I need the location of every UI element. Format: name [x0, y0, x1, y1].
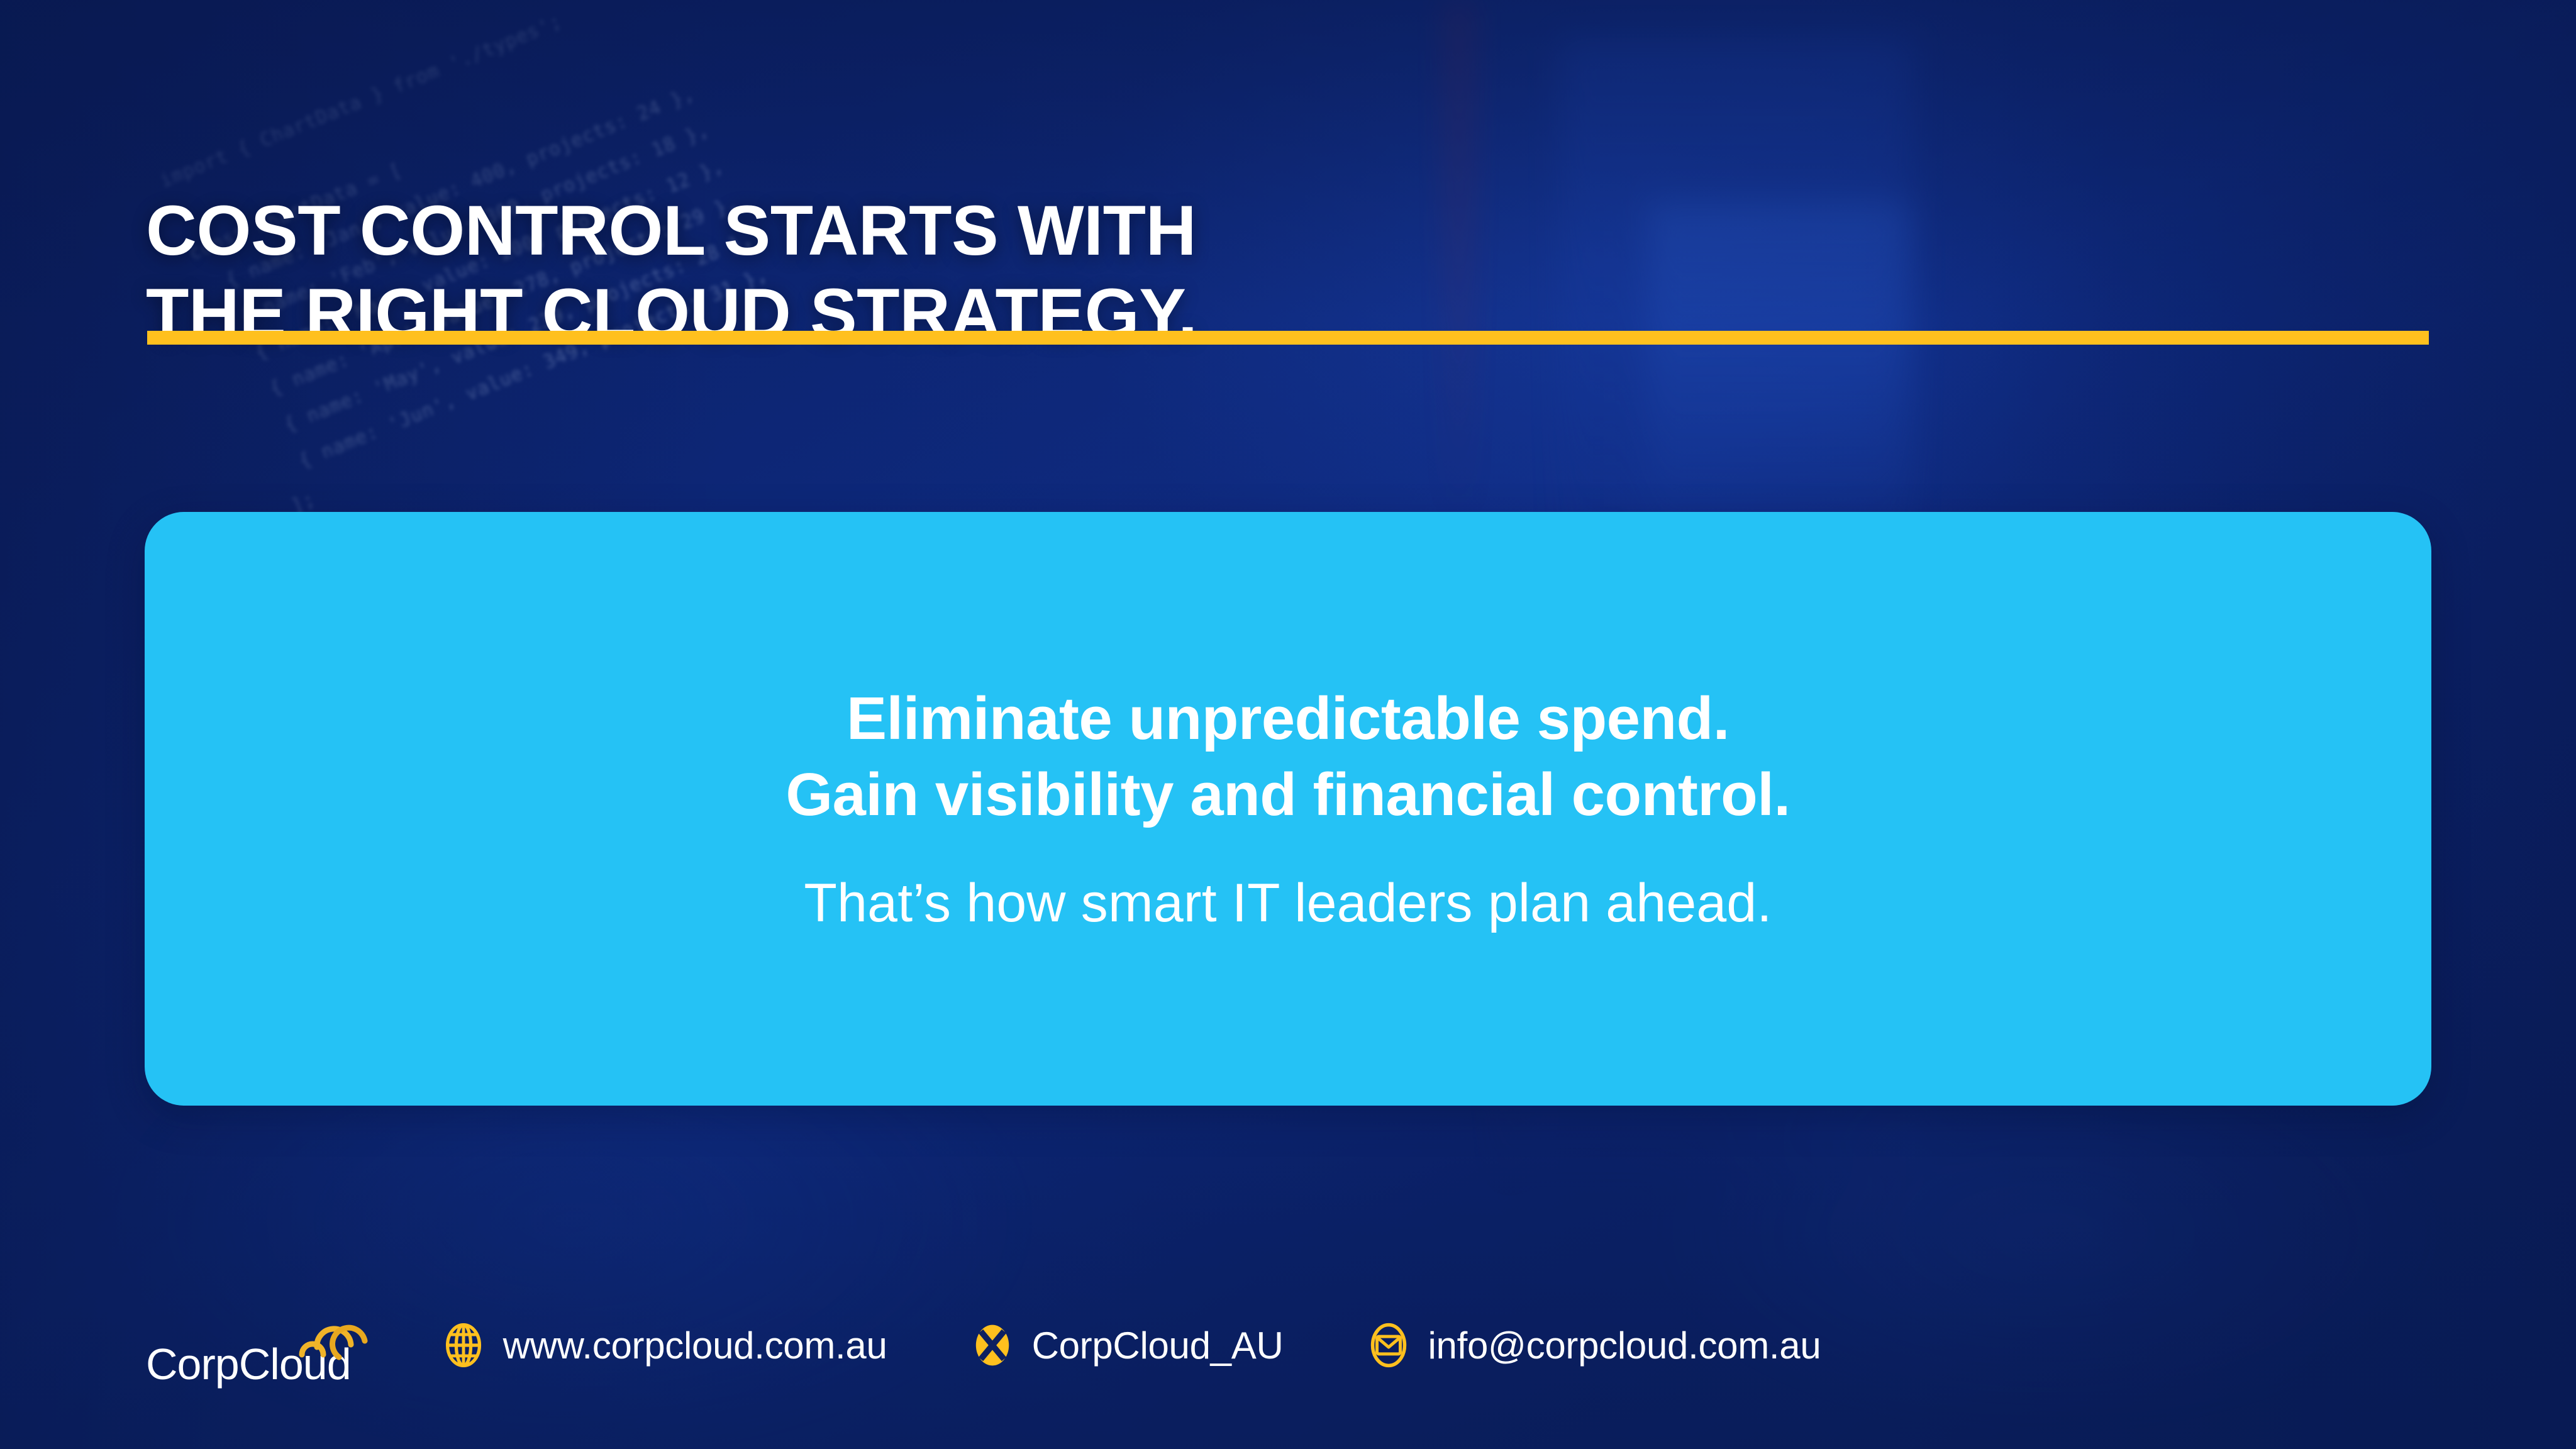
- card-subheading: That’s how smart IT leaders plan ahead.: [804, 871, 1772, 936]
- email-icon: [1365, 1322, 1412, 1368]
- slide-canvas: import { ChartData } from './types'; con…: [0, 0, 2576, 1449]
- x-twitter-icon: [969, 1322, 1016, 1368]
- footer-bar: CorpCloud www.corpcloud.com.au: [146, 1304, 1821, 1386]
- contact-website[interactable]: www.corpcloud.com.au: [440, 1322, 887, 1368]
- gold-divider: [147, 331, 2429, 345]
- contact-list: www.corpcloud.com.au CorpCloud_AU info@c…: [440, 1322, 1821, 1368]
- contact-x-handle[interactable]: CorpCloud_AU: [969, 1322, 1284, 1368]
- card-heading-line-2: Gain visibility and financial control.: [786, 757, 1790, 833]
- card-heading-line-1: Eliminate unpredictable spend.: [786, 681, 1790, 757]
- message-card: Eliminate unpredictable spend. Gain visi…: [145, 512, 2431, 1106]
- contact-email[interactable]: info@corpcloud.com.au: [1365, 1322, 1821, 1368]
- cloud-icon: [296, 1308, 374, 1362]
- card-heading: Eliminate unpredictable spend. Gain visi…: [786, 681, 1790, 833]
- contact-x-handle-label: CorpCloud_AU: [1032, 1324, 1284, 1367]
- globe-icon: [440, 1322, 487, 1368]
- contact-email-label: info@corpcloud.com.au: [1428, 1324, 1821, 1367]
- contact-website-label: www.corpcloud.com.au: [503, 1324, 887, 1367]
- headline-line-1: COST CONTROL STARTS WITH: [146, 189, 1197, 272]
- brand-logo[interactable]: CorpCloud: [146, 1308, 351, 1382]
